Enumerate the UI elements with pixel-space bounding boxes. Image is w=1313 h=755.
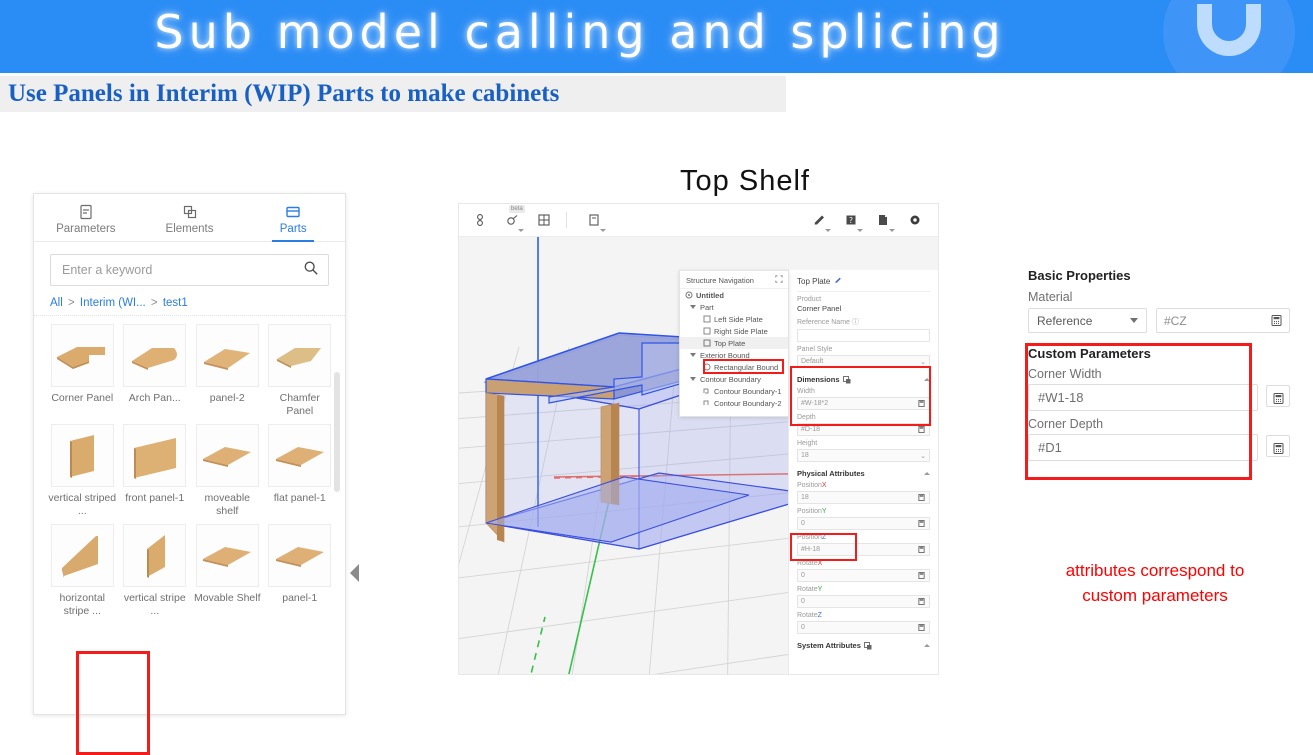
material-row: Reference #CZ: [1028, 308, 1290, 333]
banner-title: Sub model calling and splicing: [0, 5, 1160, 59]
corner-width-calculator-button[interactable]: [1266, 385, 1290, 407]
chevron-down-icon: [857, 229, 863, 232]
part-label: vertical striped ...: [48, 492, 116, 518]
width-input[interactable]: #W-18*2: [797, 397, 930, 410]
part-label: vertical stripe ...: [121, 592, 189, 618]
part-item-flat-panel-1[interactable]: flat panel-1: [265, 422, 336, 522]
part-label: flat panel-1: [266, 492, 334, 505]
positionx-text: Position: [797, 482, 822, 489]
rotatez-label: RotateZ: [797, 612, 930, 619]
search-icon[interactable]: [303, 260, 319, 281]
svg-text:?: ?: [849, 216, 853, 225]
caret-down-icon[interactable]: [690, 353, 696, 357]
tree-node-label: Part: [700, 303, 714, 312]
calculator-icon[interactable]: [918, 624, 926, 632]
material-label: Material: [1028, 290, 1290, 304]
part-item-vertical-striped[interactable]: vertical striped ...: [47, 422, 118, 522]
calculator-icon[interactable]: [918, 400, 926, 408]
part-label: Corner Panel: [48, 392, 116, 405]
part-thumbnail: [123, 524, 186, 587]
part-thumbnail: [123, 424, 186, 487]
editor-toolbar: beta ?: [459, 204, 938, 237]
tab-parameters[interactable]: Parameters: [34, 194, 138, 241]
part-thumbnail: [196, 524, 259, 587]
tree-node-right-side-plate[interactable]: Right Side Plate: [680, 325, 788, 337]
part-item-panel-2[interactable]: panel-2: [192, 322, 263, 422]
part-label: Movable Shelf: [193, 592, 261, 605]
caret-down-icon[interactable]: [690, 305, 696, 309]
caret-down-icon[interactable]: [690, 377, 696, 381]
tree-node-exterior-bound[interactable]: Exterior Bound: [680, 349, 788, 361]
properties-title: Top Plate: [797, 277, 830, 286]
part-item-moveable-shelf[interactable]: moveable shelf: [192, 422, 263, 522]
plate-icon: [703, 339, 711, 347]
chevron-down-icon: ⌄: [920, 358, 926, 366]
gear-icon[interactable]: [908, 213, 922, 227]
rotatez-text: Rotate: [797, 612, 818, 619]
positionx-input[interactable]: 18: [797, 491, 930, 504]
rotatez-input[interactable]: 0: [797, 621, 930, 634]
subtitle-text: Use Panels in Interim (WIP) Parts to mak…: [0, 80, 559, 108]
corner-depth-row: #D1: [1028, 431, 1290, 461]
selection-highlight: [76, 651, 150, 755]
corner-width-row: #W1-18: [1028, 381, 1290, 411]
basic-properties-title: Basic Properties: [1028, 268, 1290, 283]
expand-icon[interactable]: [775, 275, 783, 285]
breadcrumb-middle[interactable]: Interim (WI...: [80, 297, 146, 309]
formula-icon: [864, 642, 872, 650]
part-item-movable-shelf[interactable]: Movable Shelf: [192, 522, 263, 622]
height-label: Height: [797, 440, 930, 447]
rotatey-input[interactable]: 0: [797, 595, 930, 608]
part-thumbnail: [268, 524, 331, 587]
part-label: panel-2: [193, 392, 261, 405]
axis-y-letter: Y: [818, 586, 823, 593]
properties-panel: Top Plate Product Corner Panel Reference…: [788, 270, 938, 674]
rotatey-value: 0: [801, 598, 805, 605]
annotation-line-2: custom parameters: [1010, 583, 1300, 608]
axis-y-letter: Y: [822, 508, 827, 515]
part-thumbnail: [268, 324, 331, 387]
physical-section-header[interactable]: Physical Attributes: [797, 469, 930, 478]
calculator-icon[interactable]: [918, 546, 926, 554]
bound-icon: [703, 363, 711, 371]
document-icon[interactable]: [876, 213, 890, 227]
breadcrumb-separator-2: >: [151, 297, 158, 309]
dimensions-section-header[interactable]: Dimensions: [797, 375, 930, 384]
tree-node-untitled[interactable]: Untitled: [680, 289, 788, 301]
calculator-icon: [1273, 391, 1284, 402]
dimensions-section-label: Dimensions: [797, 375, 840, 384]
tree-node-top-plate[interactable]: Top Plate: [680, 337, 788, 349]
material-mode-select[interactable]: Reference: [1028, 308, 1147, 333]
corner-depth-calculator-button[interactable]: [1266, 435, 1290, 457]
breadcrumb-separator-1: >: [68, 297, 75, 309]
chevron-down-icon: ⌄: [920, 452, 926, 460]
positionz-text: Position: [797, 534, 822, 541]
grid-icon[interactable]: [537, 213, 551, 227]
part-item-arch-panel[interactable]: Arch Pan...: [120, 322, 191, 422]
product-value: Corner Panel: [797, 304, 930, 313]
positiony-text: Position: [797, 508, 822, 515]
tree-node-label: Contour Boundary: [700, 375, 761, 384]
reference-name-label: Reference Name ⓘ: [797, 317, 930, 327]
material-mode-value: Reference: [1037, 314, 1092, 328]
contour-icon: [703, 387, 711, 395]
depth-label: Depth: [797, 414, 930, 421]
toolbar-divider: [566, 212, 567, 228]
help-icon[interactable]: ?: [844, 213, 858, 227]
tree-node-label: Rectangular Bound: [714, 363, 778, 372]
contour-icon: [703, 399, 711, 407]
tree-node-label: Top Plate: [714, 339, 745, 348]
calculator-icon[interactable]: [1271, 315, 1282, 326]
corner-width-value: #W1-18: [1038, 390, 1084, 405]
system-section-header[interactable]: System Attributes: [797, 641, 930, 650]
annotation-text: attributes correspond to custom paramete…: [1010, 558, 1300, 608]
chevron-down-icon: [600, 229, 606, 232]
reference-name-input[interactable]: [797, 329, 930, 342]
tree-node-contour-boundary-1[interactable]: Contour Boundary-1: [680, 385, 788, 397]
part-thumbnail: [51, 524, 114, 587]
part-label: horizontal stripe ...: [48, 592, 116, 618]
positionx-value: 18: [801, 494, 809, 501]
tree-node-label: Contour Boundary-1: [714, 387, 782, 396]
corner-depth-input[interactable]: #D1: [1028, 434, 1258, 461]
tree-node-label: Exterior Bound: [700, 351, 750, 360]
plate-icon: [703, 327, 711, 335]
page-title: Top Shelf: [600, 165, 890, 198]
rotatex-value: 0: [801, 572, 805, 579]
question-icon[interactable]: ⓘ: [852, 319, 859, 326]
beta-badge: beta: [509, 205, 525, 213]
axis-z-letter: Z: [818, 612, 822, 619]
tab-elements-label: Elements: [166, 223, 214, 235]
height-input[interactable]: 18 ⌄: [797, 449, 930, 462]
part-label: Arch Pan...: [121, 392, 189, 405]
page-icon[interactable]: [587, 213, 601, 227]
rotatey-label: RotateY: [797, 586, 930, 593]
chevron-down-icon: [825, 229, 831, 232]
3d-viewport[interactable]: Structure Navigation Untitled Part: [459, 237, 938, 674]
link-icon[interactable]: [473, 213, 487, 227]
rotatex-input[interactable]: 0: [797, 569, 930, 582]
product-label: Product: [797, 296, 930, 303]
positiony-label: PositionY: [797, 508, 930, 515]
plate-icon: [703, 315, 711, 323]
breadcrumb-leaf[interactable]: test1: [163, 297, 188, 309]
part-label: Chamfer Panel: [266, 392, 334, 418]
part-label: front panel-1: [121, 492, 189, 505]
panel-style-label: Panel Style: [797, 346, 930, 353]
depth-value: #D-18: [801, 426, 820, 433]
corner-depth-label: Corner Depth: [1028, 417, 1290, 431]
parts-tab-bar: Parameters Elements Parts: [34, 194, 345, 242]
calculator-icon[interactable]: [918, 520, 926, 528]
positiony-value: 0: [801, 520, 805, 527]
panel-style-select[interactable]: Default ⌄: [797, 355, 930, 368]
system-section-label: System Attributes: [797, 641, 861, 650]
tree-node-contour-boundary-2[interactable]: Contour Boundary-2: [680, 397, 788, 409]
part-item-horizontal-stripe[interactable]: horizontal stripe ...: [47, 522, 118, 622]
part-thumbnail: [196, 424, 259, 487]
positionz-label: PositionZ: [797, 534, 930, 541]
corner-width-input[interactable]: #W1-18: [1028, 384, 1258, 411]
tab-parameters-label: Parameters: [56, 223, 115, 235]
tab-elements[interactable]: Elements: [138, 194, 242, 241]
tree-node-left-side-plate[interactable]: Left Side Plate: [680, 313, 788, 325]
height-value: 18: [801, 452, 809, 459]
calculator-icon[interactable]: [918, 572, 926, 580]
rotatez-value: 0: [801, 624, 805, 631]
collapse-panel-arrow[interactable]: [350, 564, 359, 582]
axis-z-letter: Z: [822, 534, 826, 541]
tree-node-label: Left Side Plate: [714, 315, 763, 324]
breadcrumb: All > Interim (WI... > test1: [34, 292, 345, 316]
parameters-icon: [78, 204, 94, 220]
search-box[interactable]: [50, 254, 329, 286]
tree-node-label: Contour Boundary-2: [714, 399, 782, 408]
parts-grid: Corner Panel Arch Pan... panel-2 Chamfer…: [34, 316, 345, 622]
rotatex-label: RotateX: [797, 560, 930, 567]
part-thumbnail: [123, 324, 186, 387]
corner-depth-value: #D1: [1038, 440, 1062, 455]
pencil-icon[interactable]: [834, 276, 842, 286]
chevron-down-icon: [1130, 318, 1138, 323]
subtitle-bar: Use Panels in Interim (WIP) Parts to mak…: [0, 76, 786, 112]
panel-style-value: Default: [801, 358, 823, 365]
physical-section-label: Physical Attributes: [797, 469, 865, 478]
tree-node-label: Right Side Plate: [714, 327, 768, 336]
rotatex-text: Rotate: [797, 560, 818, 567]
parts-icon: [285, 204, 301, 220]
part-item-vertical-stripe[interactable]: vertical stripe ...: [120, 522, 191, 622]
corner-width-label: Corner Width: [1028, 367, 1290, 381]
rotatey-text: Rotate: [797, 586, 818, 593]
tree-node-label: Untitled: [696, 291, 724, 300]
positionz-input[interactable]: #H-18: [797, 543, 930, 556]
collapse-icon[interactable]: [924, 378, 930, 381]
header-banner: Sub model calling and splicing: [0, 0, 1313, 73]
search-area: [34, 242, 345, 292]
custom-parameters-title: Custom Parameters: [1028, 346, 1290, 361]
model-editor: beta ?: [458, 203, 939, 675]
part-thumbnail: [51, 324, 114, 387]
tab-parts-label: Parts: [280, 223, 307, 235]
part-item-panel-1[interactable]: panel-1: [265, 522, 336, 622]
depth-input[interactable]: #D-18: [797, 423, 930, 436]
positionz-value: #H-18: [801, 546, 820, 553]
snap-icon[interactable]: beta: [505, 213, 519, 227]
part-label: moveable shelf: [193, 492, 261, 518]
elements-icon: [182, 204, 198, 220]
axis-x-letter: X: [818, 560, 823, 567]
search-input[interactable]: [60, 262, 303, 278]
basic-properties-panel: Basic Properties Material Reference #CZ …: [1028, 268, 1290, 461]
calculator-icon[interactable]: [918, 598, 926, 606]
positionx-label: PositionX: [797, 482, 930, 489]
collapse-icon[interactable]: [924, 644, 930, 647]
part-item-corner-panel[interactable]: Corner Panel: [47, 322, 118, 422]
panel-scrollbar[interactable]: [334, 372, 340, 492]
formula-icon: [843, 376, 851, 384]
pencil-icon[interactable]: [812, 213, 826, 227]
properties-header: Top Plate: [797, 274, 930, 292]
reference-name-text: Reference Name: [797, 319, 850, 326]
calculator-icon[interactable]: [918, 494, 926, 502]
structure-title: Structure Navigation: [686, 276, 754, 285]
structure-navigation-panel: Structure Navigation Untitled Part: [679, 270, 789, 417]
structure-header: Structure Navigation: [680, 271, 788, 289]
part-item-front-panel-1[interactable]: front panel-1: [120, 422, 191, 522]
tree-node-part[interactable]: Part: [680, 301, 788, 313]
part-item-chamfer-panel[interactable]: Chamfer Panel: [265, 322, 336, 422]
part-thumbnail: [196, 324, 259, 387]
tree-node-contour-boundary[interactable]: Contour Boundary: [680, 373, 788, 385]
parts-panel: Parameters Elements Parts All > Interim …: [33, 193, 346, 715]
material-value: #CZ: [1164, 314, 1187, 328]
width-value: #W-18*2: [801, 400, 828, 407]
part-thumbnail: [268, 424, 331, 487]
part-label: panel-1: [266, 592, 334, 605]
axis-x-letter: X: [822, 482, 827, 489]
positiony-input[interactable]: 0: [797, 517, 930, 530]
collapse-icon[interactable]: [924, 472, 930, 475]
root-icon: [685, 291, 693, 299]
width-label: Width: [797, 388, 930, 395]
breadcrumb-root[interactable]: All: [50, 297, 63, 309]
chevron-down-icon: [889, 229, 895, 232]
annotation-line-1: attributes correspond to: [1010, 558, 1300, 583]
part-thumbnail: [51, 424, 114, 487]
material-value-input[interactable]: #CZ: [1156, 308, 1290, 333]
tree-node-rectangular-bound[interactable]: Rectangular Bound: [680, 361, 788, 373]
calculator-icon[interactable]: [918, 426, 926, 434]
chevron-down-icon: [518, 229, 524, 232]
tab-parts[interactable]: Parts: [241, 194, 345, 241]
calculator-icon: [1273, 441, 1284, 452]
